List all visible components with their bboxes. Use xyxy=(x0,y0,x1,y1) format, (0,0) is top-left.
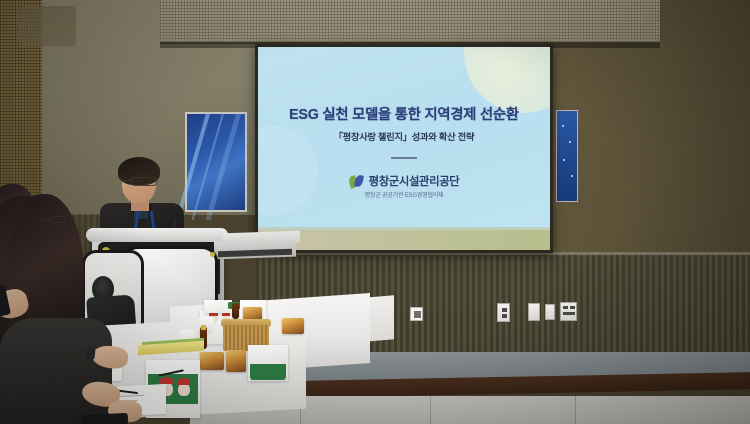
organization-subtitle: 평창군 공공기관 ESG경영협의체 xyxy=(258,190,550,199)
snack-pouch[interactable] xyxy=(282,318,304,334)
bottle-cap xyxy=(201,325,206,330)
glasses-icon xyxy=(131,177,157,186)
chair-emblem-icon xyxy=(210,252,215,257)
santa-hat-icon xyxy=(160,377,173,384)
slide-divider xyxy=(391,157,417,159)
presentation-slide: ESG 실천 모델을 통한 지역경제 선순환 「평창사랑 챌린지」성과와 확산 … xyxy=(258,47,550,250)
sign-glyph-icon xyxy=(414,311,421,318)
attendee-glasses-icon xyxy=(49,216,66,223)
snack-pouch[interactable] xyxy=(200,352,224,370)
power-outlet-plate[interactable] xyxy=(545,304,555,320)
wristwatch xyxy=(85,348,95,360)
blue-banner-right xyxy=(556,110,578,202)
santa-hat-icon xyxy=(178,378,190,385)
podium-top-surface xyxy=(86,228,228,242)
upper-wall-valance xyxy=(160,0,660,44)
slide-title: ESG 실천 모델을 통한 지역경제 선순환 xyxy=(258,103,550,124)
blue-banner-left xyxy=(185,112,247,212)
attendee-front-left-body xyxy=(0,318,112,424)
slide-subtitle: 「평창사랑 챌린지」성과와 확산 전략 xyxy=(258,129,550,143)
power-outlet-plate[interactable] xyxy=(528,303,540,321)
panel-button[interactable] xyxy=(570,306,575,309)
panel-button[interactable] xyxy=(563,306,568,309)
gift-box-green-accent xyxy=(250,364,286,380)
beverage-bottle[interactable] xyxy=(232,303,239,319)
switch-button[interactable] xyxy=(502,308,507,312)
light-switch-plate[interactable] xyxy=(497,303,510,322)
av-control-panel[interactable] xyxy=(560,302,577,321)
organization-name: 평창군시설관리공단 xyxy=(369,173,460,189)
exit-sign xyxy=(410,307,423,321)
ceiling-speaker-icon xyxy=(18,6,76,46)
slide-bottom-band xyxy=(258,230,550,250)
switch-button[interactable] xyxy=(502,314,507,318)
smartphone[interactable] xyxy=(82,413,129,424)
panel-button[interactable] xyxy=(563,312,575,315)
conference-room-scene: ESG 실천 모델을 통한 지역경제 선순환 「평창사랑 챌린지」성과와 확산 … xyxy=(0,0,750,424)
organization-logo: 평창군시설관리공단 xyxy=(258,173,550,189)
snack-pouch[interactable] xyxy=(226,350,246,372)
leaf-logo-icon xyxy=(349,175,366,188)
